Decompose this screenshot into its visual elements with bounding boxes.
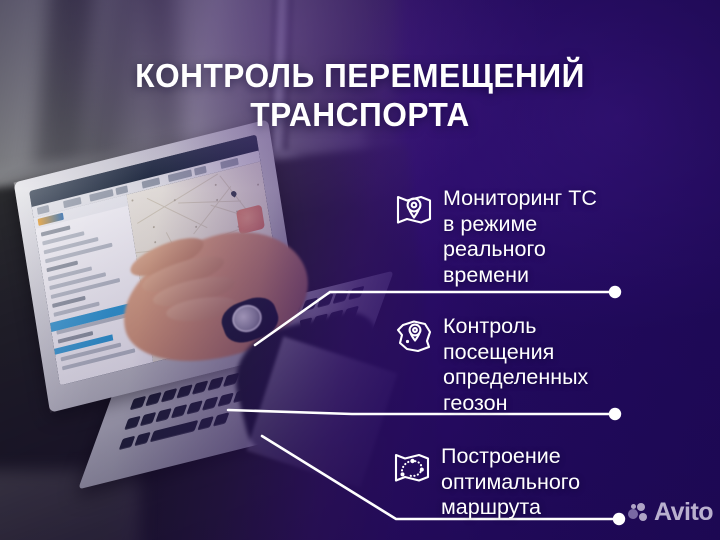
feature-text-1: Мониторинг ТС в режиме реального времени bbox=[443, 186, 597, 288]
connector-dot-1 bbox=[609, 286, 621, 298]
connector-dot-3 bbox=[613, 513, 625, 525]
connector-dot-2 bbox=[609, 408, 621, 420]
map-pin-icon bbox=[394, 188, 432, 226]
feature-text-2: Контроль посещения определенных геозон bbox=[443, 314, 588, 416]
feature-item-3: Построение оптимального маршрута bbox=[392, 444, 580, 521]
connector-lines bbox=[0, 0, 720, 540]
feature-item-2: Контроль посещения определенных геозон bbox=[394, 314, 588, 416]
avito-wordmark: Avito bbox=[654, 500, 713, 525]
avito-dots-icon bbox=[628, 503, 650, 523]
route-map-icon bbox=[392, 446, 430, 484]
avito-watermark: Avito bbox=[628, 500, 713, 525]
feature-text-3: Построение оптимального маршрута bbox=[441, 444, 580, 521]
geofence-pin-icon bbox=[394, 316, 432, 354]
feature-item-1: Мониторинг ТС в режиме реального времени bbox=[394, 186, 597, 288]
promo-banner: КОНТРОЛЬ ПЕРЕМЕЩЕНИЙ ТРАНСПОРТА Монитори… bbox=[0, 0, 720, 540]
